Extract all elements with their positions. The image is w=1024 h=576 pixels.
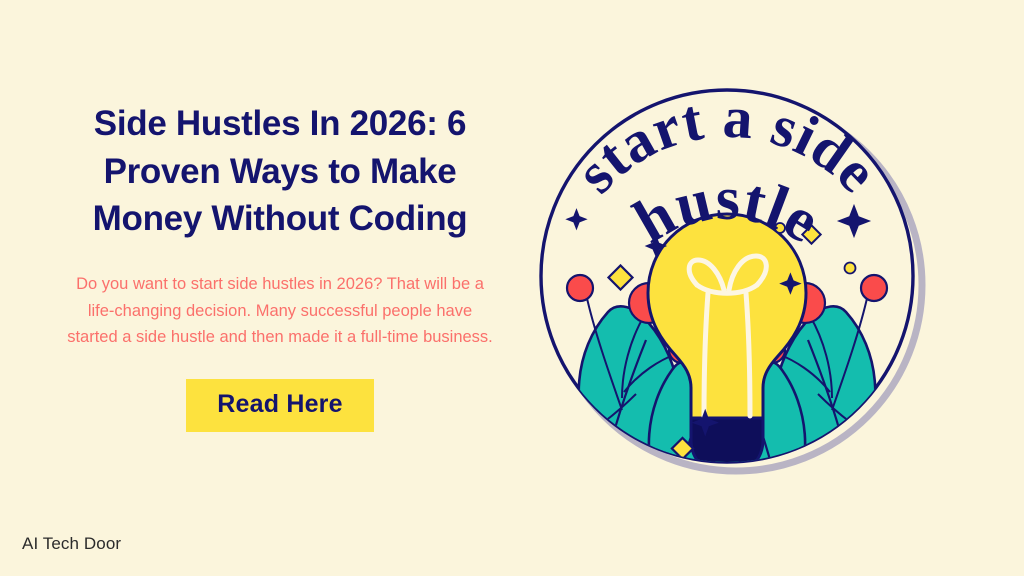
text-column: Side Hustles In 2026: 6 Proven Ways to M…: [58, 100, 502, 432]
page-title: Side Hustles In 2026: 6 Proven Ways to M…: [58, 100, 502, 243]
brand-footer: AI Tech Door: [22, 534, 121, 554]
subcopy-paragraph: Do you want to start side hustles in 202…: [62, 271, 498, 351]
cta-container: Read Here: [58, 379, 502, 432]
read-here-button[interactable]: Read Here: [186, 379, 373, 432]
diamond-sparkle-icon: [845, 263, 856, 274]
poster-canvas: Side Hustles In 2026: 6 Proven Ways to M…: [0, 0, 1024, 576]
badge-svg: start a side hustle: [512, 50, 972, 520]
badge-illustration: start a side hustle: [512, 50, 972, 520]
